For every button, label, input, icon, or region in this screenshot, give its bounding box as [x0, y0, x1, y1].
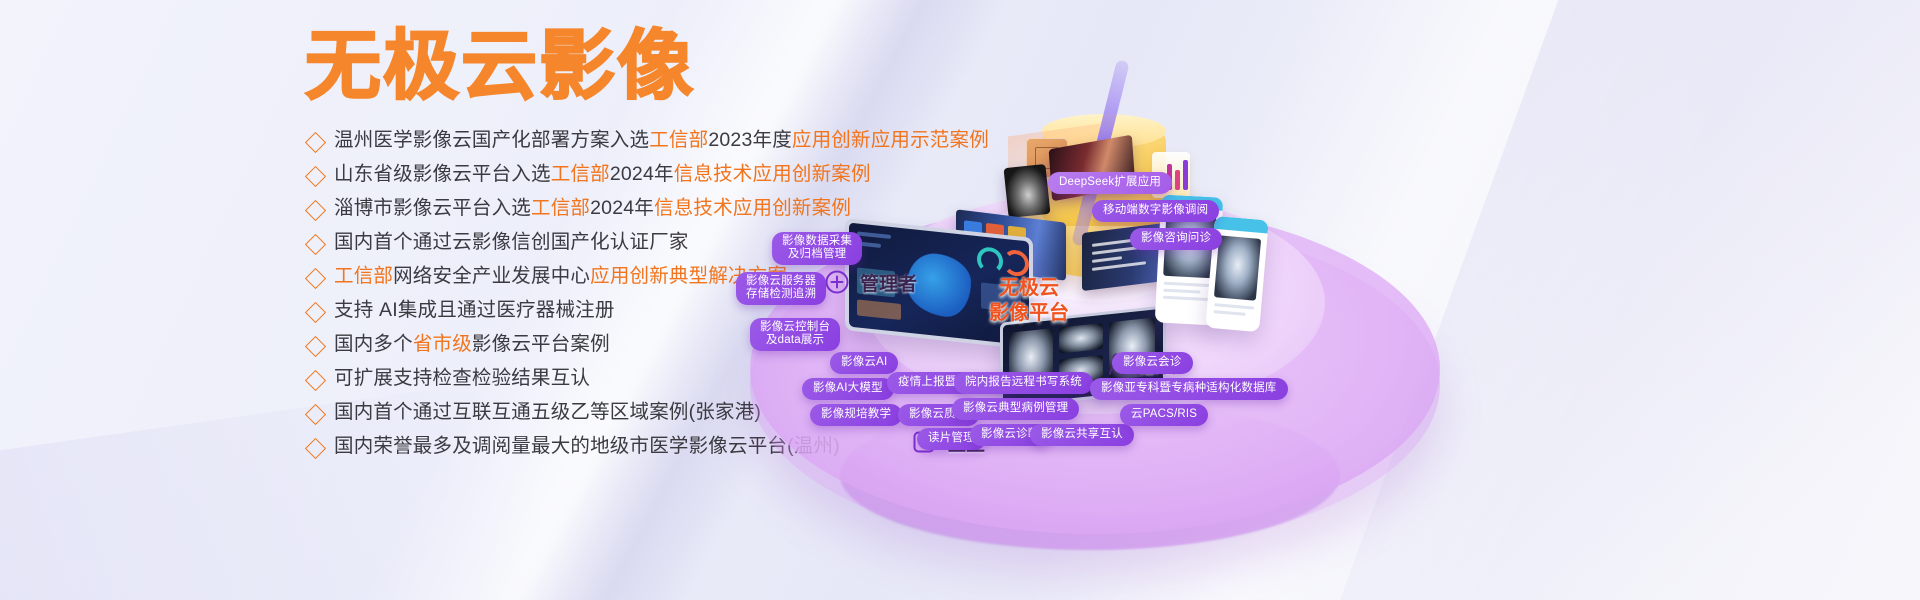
badge-consult[interactable]: 影像咨询问诊	[1130, 228, 1222, 250]
diamond-icon	[305, 370, 326, 391]
diamond-icon	[305, 234, 326, 255]
list-item-text: 可扩展支持检查检验结果互认	[334, 366, 590, 390]
role-admin: 管理者	[823, 268, 917, 296]
chest-xray-image	[1214, 235, 1261, 300]
badge-subspecialty-db[interactable]: 影像亚专科暨专病种适构化数据库	[1090, 378, 1288, 400]
highlight-text: 工信部	[531, 197, 590, 219]
platform-illustration: 管理者 医生 患者 无极云 影像平台	[690, 100, 1920, 600]
badge-line: 及data展示	[760, 334, 830, 347]
diamond-icon	[305, 302, 326, 323]
badge-remote-report[interactable]: 院内报告远程书写系统	[954, 372, 1093, 394]
highlight-text: 工信部	[551, 163, 610, 185]
badge-console[interactable]: 影像云控制台及data展示	[750, 318, 840, 351]
diamond-icon	[305, 404, 326, 425]
donut-chart-icon	[1003, 249, 1029, 278]
highlight-text: 省市级	[413, 333, 472, 355]
plain-text: 温州医学影像云国产化部署方案入选	[334, 129, 649, 151]
plain-text: 2024年	[590, 197, 654, 219]
plain-text: 国内首个通过云影像信创国产化认证厂家	[334, 231, 689, 253]
donut-chart-icon	[977, 246, 1003, 275]
badge-line: 影像数据采集	[782, 235, 852, 248]
platform-name-line1: 无极云	[999, 277, 1059, 299]
page-title: 无极云影像	[305, 24, 695, 108]
plain-text: 支持 AI集成且通过医疗器械注册	[334, 299, 615, 321]
badge-pacs-ris[interactable]: 云PACS/RIS	[1120, 404, 1208, 426]
badge-line: 影像云服务器	[746, 275, 816, 288]
diamond-icon	[305, 200, 326, 221]
badge-line: 及归档管理	[782, 248, 852, 261]
ultrasound-thumbnail	[1004, 164, 1051, 218]
badge-mobile-view[interactable]: 移动端数字影像调阅	[1092, 200, 1219, 222]
badge-line: 存储检测追溯	[746, 288, 816, 301]
plain-text: 山东省级影像云平台入选	[334, 163, 551, 185]
plus-circle-icon	[823, 268, 851, 296]
highlight-text: 工信部	[334, 265, 393, 287]
list-item-text: 国内首个通过云影像信创国产化认证厂家	[334, 230, 689, 254]
list-item-text: 支持 AI集成且通过医疗器械注册	[334, 298, 615, 322]
platform-name-line2: 影像平台	[989, 302, 1069, 324]
badge-line: 影像云控制台	[760, 321, 830, 334]
badge-case-mgmt[interactable]: 影像云典型病例管理	[952, 398, 1079, 420]
badge-share[interactable]: 影像云共享互认	[1030, 424, 1134, 446]
badge-training[interactable]: 影像规培教学	[810, 404, 902, 426]
diamond-icon	[305, 268, 326, 289]
badge-cloud-ai[interactable]: 影像云AI	[830, 352, 898, 374]
plain-text: 国内多个	[334, 333, 413, 355]
badge-deepseek[interactable]: DeepSeek扩展应用	[1048, 172, 1172, 194]
plain-text: 2024年	[610, 163, 674, 185]
platform-name: 无极云 影像平台	[958, 276, 1100, 326]
badge-storage-trace[interactable]: 影像云服务器存储检测追溯	[736, 272, 826, 305]
diamond-icon	[305, 166, 326, 187]
diamond-icon	[305, 132, 326, 153]
plain-text: 淄博市影像云平台入选	[334, 197, 531, 219]
list-item-text: 国内多个省市级影像云平台案例	[334, 332, 610, 356]
role-admin-label: 管理者	[860, 269, 917, 296]
plain-text: 网络安全产业发展中心	[393, 265, 590, 287]
promo-banner: 无极云影像 温州医学影像云国产化部署方案入选工信部2023年度应用创新应用示范案…	[0, 0, 1920, 600]
diamond-icon	[305, 336, 326, 357]
diamond-icon	[305, 438, 326, 459]
plain-text: 可扩展支持检查检验结果互认	[334, 367, 590, 389]
badge-ai-model[interactable]: 影像AI大模型	[802, 378, 894, 400]
plain-text: 影像云平台案例	[472, 333, 610, 355]
badge-teleconsult[interactable]: 影像云会诊	[1112, 352, 1193, 374]
badge-data-capture[interactable]: 影像数据采集及归档管理	[772, 232, 862, 265]
